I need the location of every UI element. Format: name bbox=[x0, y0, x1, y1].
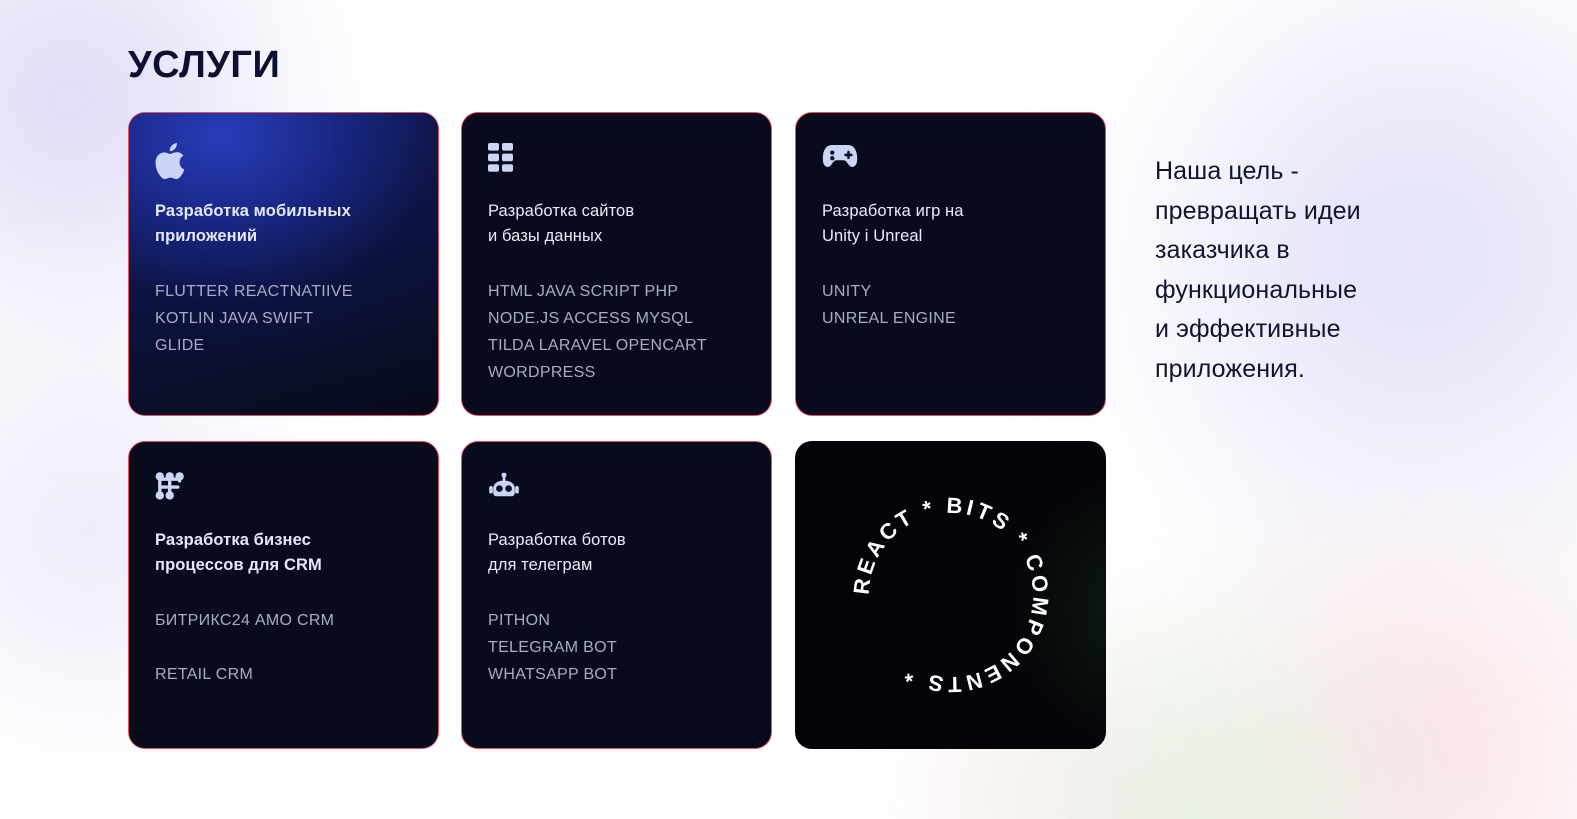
card-heading: Разработка ботов для телеграм bbox=[488, 528, 745, 578]
card-tech-tags: БИТРИКС24 AMO CRM RETAIL CRM bbox=[155, 608, 412, 689]
card-tech-tags: PITHON TELEGRAM BOT WHATSAPP BOT bbox=[488, 608, 745, 689]
service-card-crm-business-processes[interactable]: Разработка бизнес процессов для CRM БИТР… bbox=[128, 441, 439, 749]
card-tech-tags: HTML JAVA SCRIPT PHP NODE.JS ACCESS MYSQ… bbox=[488, 279, 745, 387]
service-card-telegram-bots[interactable]: Разработка ботов для телеграм PITHON TEL… bbox=[461, 441, 772, 749]
grid-icon bbox=[488, 143, 745, 179]
service-card-game-development[interactable]: Разработка игр на Unity i Unreal UNITY U… bbox=[795, 112, 1106, 416]
services-section: УСЛУГИ Разработка мобильных приложений F… bbox=[0, 0, 1577, 819]
circular-text: REACT * BITS * COMPONENTS * bbox=[848, 493, 1053, 698]
apple-icon bbox=[155, 143, 412, 179]
mission-tagline: Наша цель - превращать идеи заказчика в … bbox=[1155, 152, 1455, 389]
workflow-icon bbox=[155, 472, 412, 508]
page-title: УСЛУГИ bbox=[128, 44, 280, 87]
card-tech-tags: FLUTTER REACTNATIIVE KOTLIN JAVA SWIFT G… bbox=[155, 279, 412, 360]
service-card-websites-databases[interactable]: Разработка сайтов и базы данных HTML JAV… bbox=[461, 112, 772, 416]
gamepad-icon bbox=[822, 143, 1079, 179]
card-heading: Разработка бизнес процессов для CRM bbox=[155, 528, 412, 578]
card-heading: Разработка игр на Unity i Unreal bbox=[822, 199, 1079, 249]
card-tech-tags: UNITY UNREAL ENGINE bbox=[822, 279, 1079, 333]
circular-text-badge: REACT * BITS * COMPONENTS * bbox=[795, 441, 1106, 749]
robot-icon bbox=[488, 472, 745, 508]
card-heading: Разработка сайтов и базы данных bbox=[488, 199, 745, 249]
card-heading: Разработка мобильных приложений bbox=[155, 199, 412, 249]
service-card-mobile-apps[interactable]: Разработка мобильных приложений FLUTTER … bbox=[128, 112, 439, 416]
reactbits-badge-card[interactable]: REACT * BITS * COMPONENTS * bbox=[795, 441, 1106, 749]
